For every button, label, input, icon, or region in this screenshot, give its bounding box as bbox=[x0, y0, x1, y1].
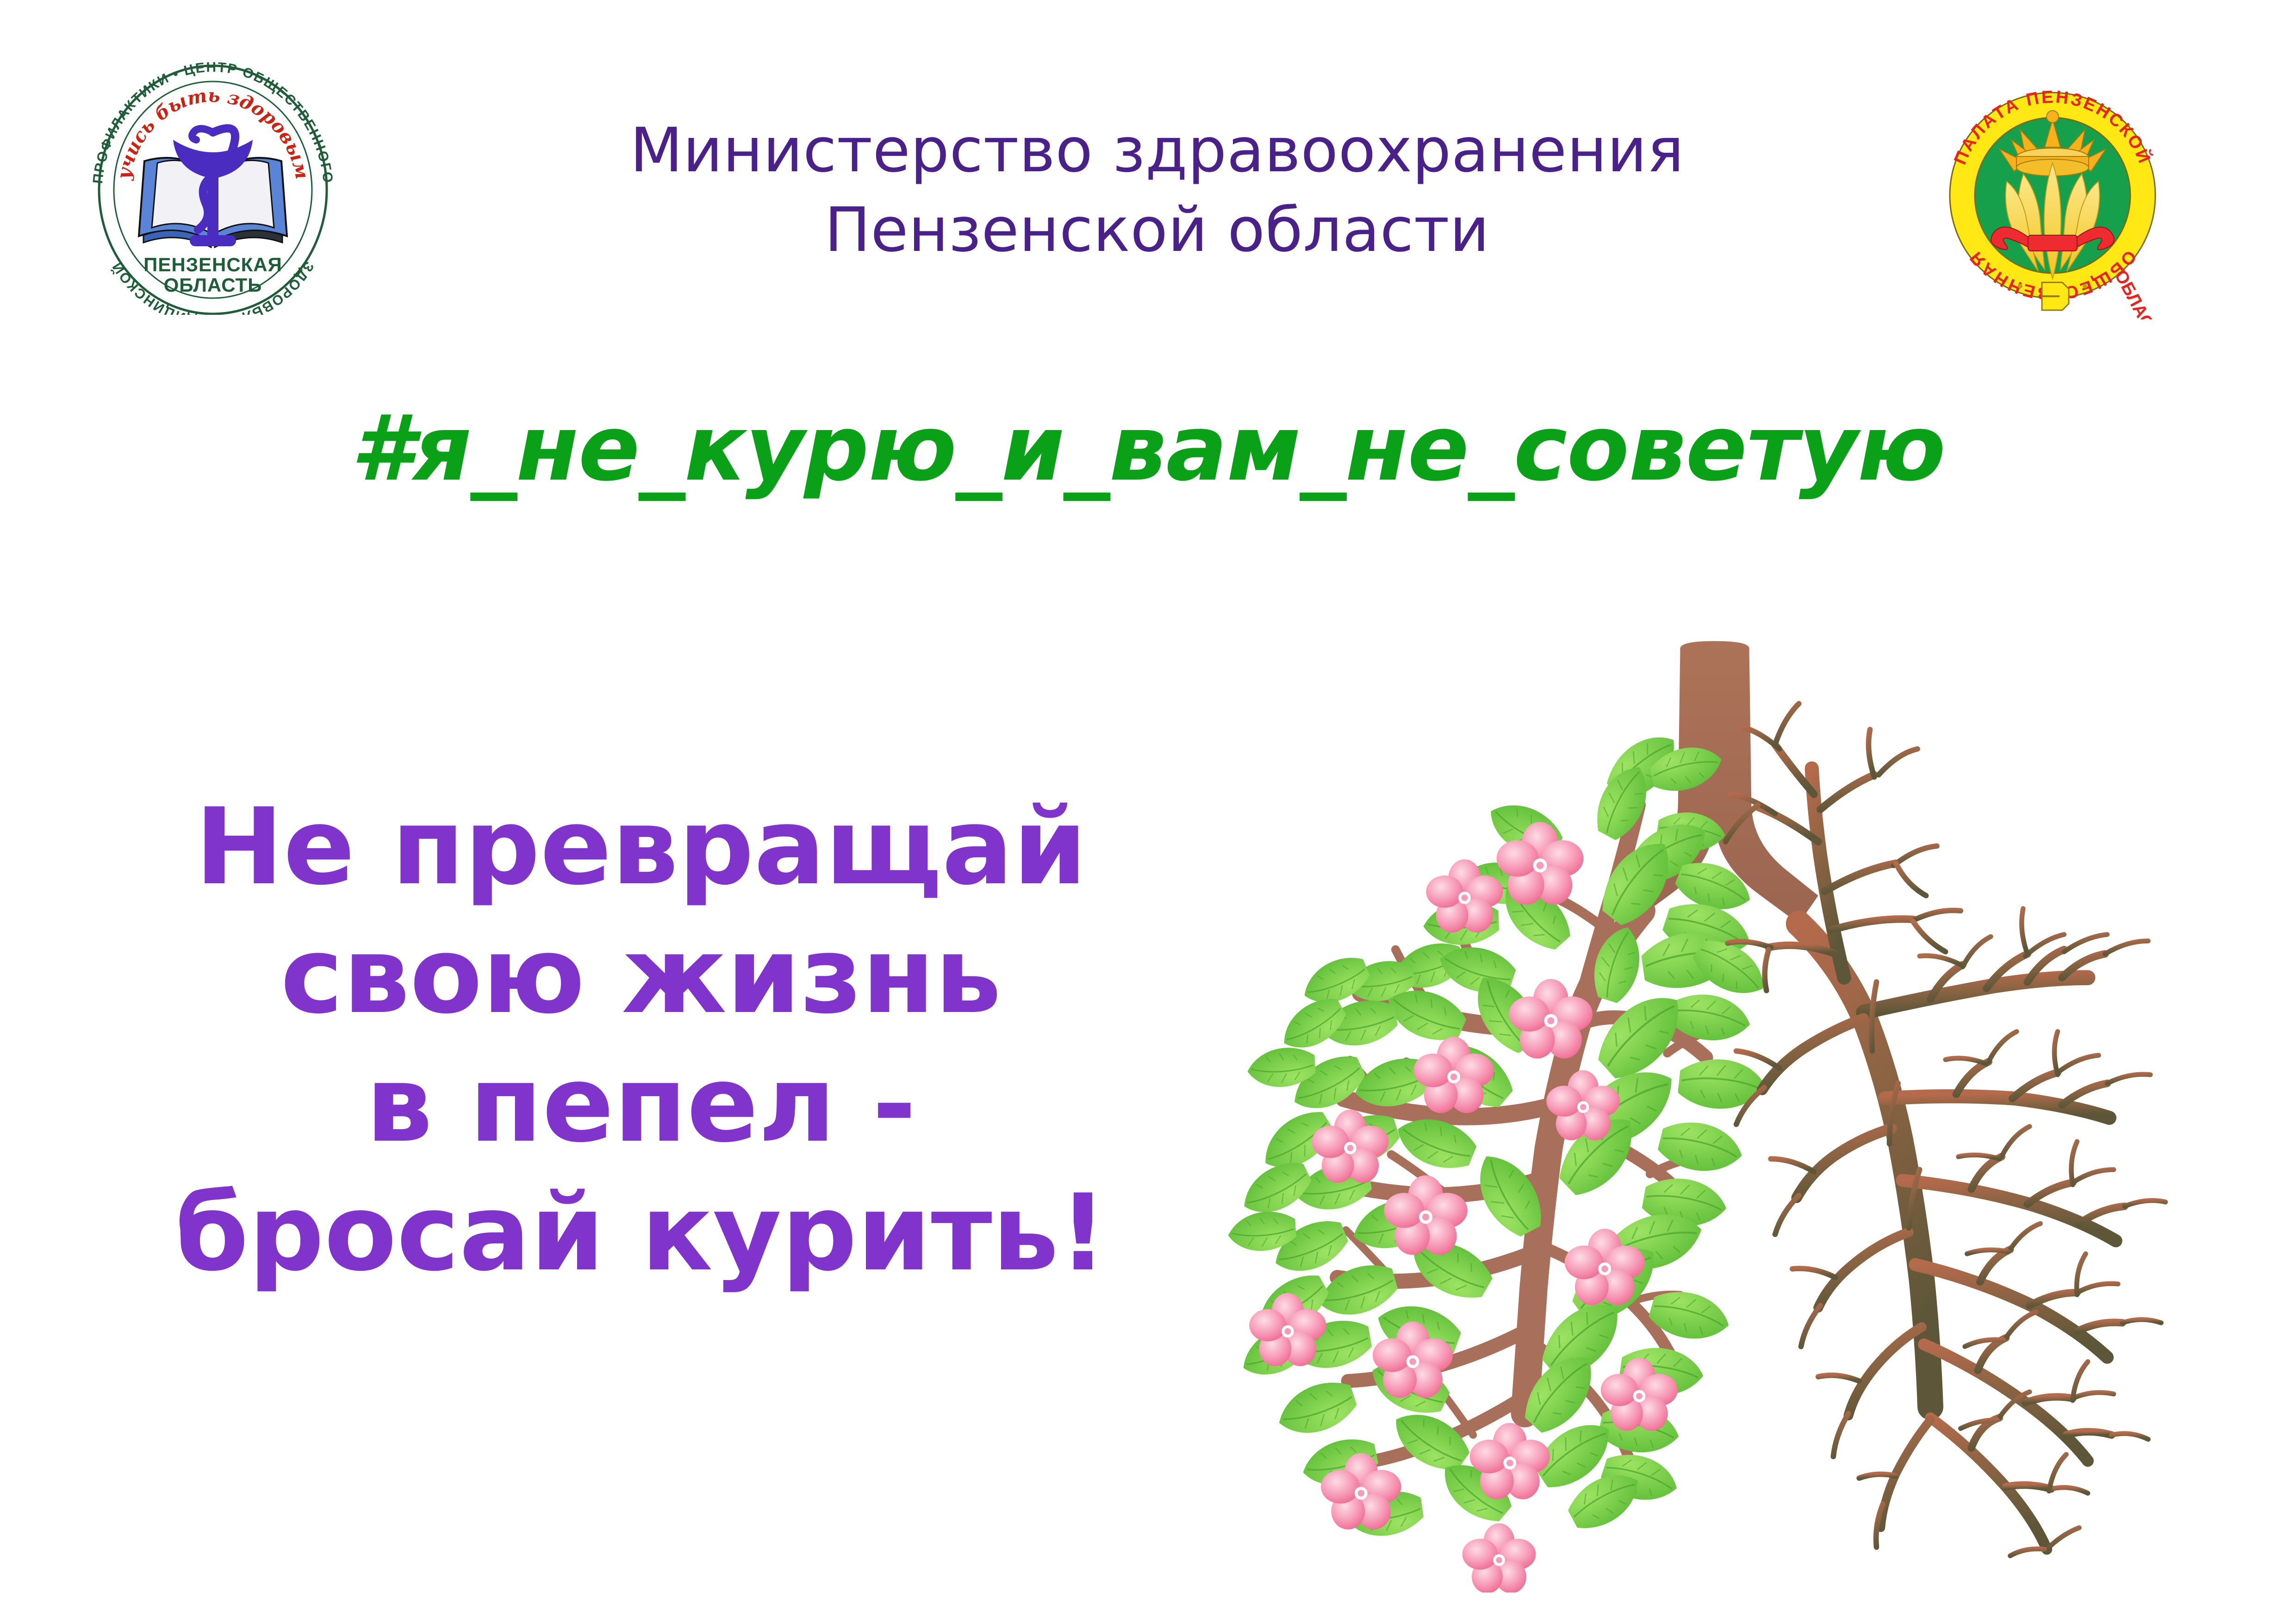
ministry-title-line2: Пензенской области bbox=[532, 191, 1782, 270]
svg-text:ОБЛАСТИ: ОБЛАСТИ bbox=[2110, 267, 2168, 319]
main-slogan: Не превращай свою жизнь в пепел - бросай… bbox=[120, 782, 1162, 1298]
ministry-title: Министерство здравоохранения Пензенской … bbox=[532, 111, 1782, 270]
slogan-line-4: бросай курить! bbox=[120, 1168, 1162, 1297]
left-lung-healthy-tree bbox=[1226, 724, 1773, 1593]
slogan-line-3: в пепел - bbox=[120, 1040, 1162, 1168]
poster-canvas: ПРОФИЛАКТИКИ • ЦЕНТР ОБЩЕСТВЕННОГО ЗДОРО… bbox=[0, 0, 2296, 1624]
lungs-as-tree-illustration bbox=[1176, 639, 2254, 1593]
svg-text:ПЕНЗЕНСКАЯ: ПЕНЗЕНСКАЯ bbox=[143, 254, 282, 275]
right-lung-dead-tree bbox=[1725, 704, 2165, 1556]
campaign-hashtag: #я_не_курю_и_вам_не_советую bbox=[0, 396, 2296, 501]
slogan-line-2: свою жизнь bbox=[120, 911, 1162, 1040]
ministry-title-line1: Министерство здравоохранения bbox=[630, 115, 1684, 186]
public-chamber-penza-seal-logo: ПАЛАТА ПЕНЗЕНСКОЙ ОБЩЕСТВЕННАЯ ОБЛАСТИ bbox=[1925, 65, 2180, 319]
poster-header: ПРОФИЛАКТИКИ • ЦЕНТР ОБЩЕСТВЕННОГО ЗДОРО… bbox=[0, 0, 2296, 352]
penza-health-center-seal-logo: ПРОФИЛАКТИКИ • ЦЕНТР ОБЩЕСТВЕННОГО ЗДОРО… bbox=[74, 56, 352, 315]
slogan-line-1: Не превращай bbox=[120, 782, 1162, 911]
svg-text:ОБЛАСТЬ: ОБЛАСТЬ bbox=[164, 274, 262, 296]
